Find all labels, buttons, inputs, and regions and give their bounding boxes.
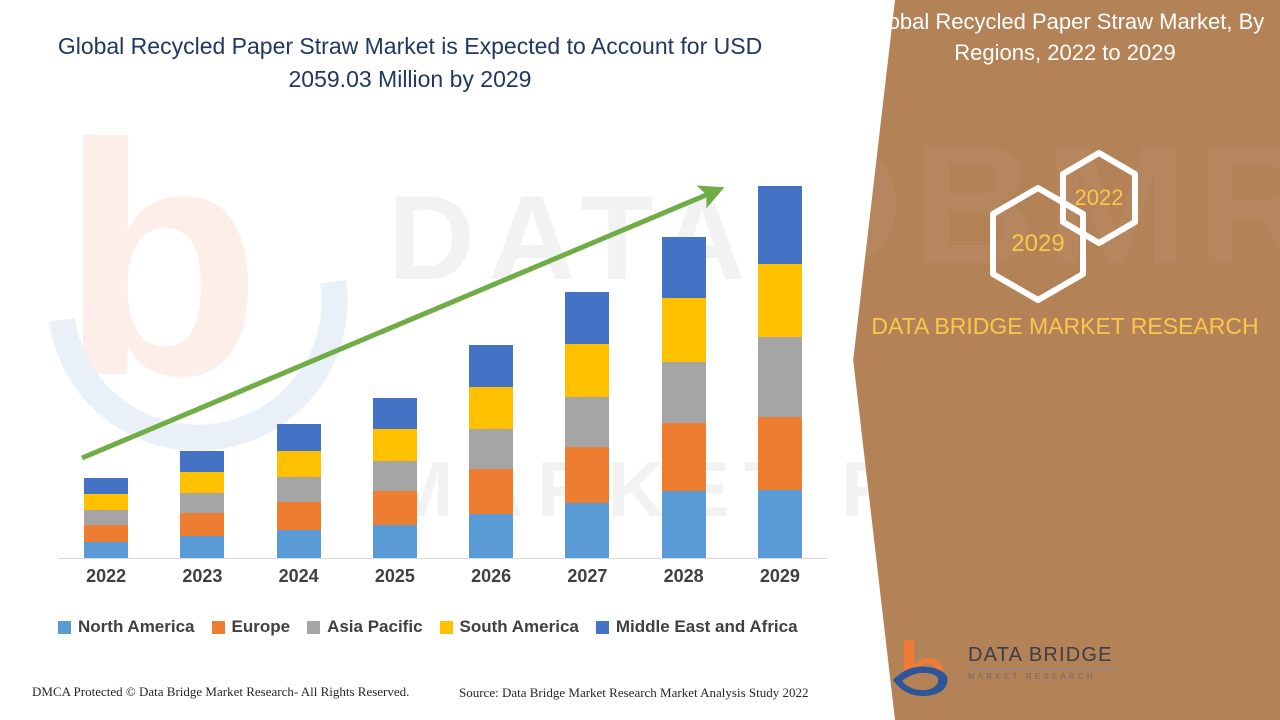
bar-segment — [373, 461, 417, 491]
x-axis-label: 2029 — [732, 566, 828, 587]
bar-stack — [84, 478, 128, 558]
bar-segment — [373, 429, 417, 461]
bar-segment — [469, 387, 513, 429]
logo-divider — [968, 669, 1120, 670]
bar-segment — [758, 337, 802, 417]
legend-label: Europe — [232, 617, 291, 637]
bar-segment — [180, 536, 224, 558]
legend-swatch-icon — [307, 621, 320, 634]
bar-column — [636, 150, 732, 558]
bar-segment — [84, 478, 128, 494]
logo-sub-text: MARKET RESEARCH — [968, 673, 1120, 682]
legend-label: Asia Pacific — [327, 617, 422, 637]
dmca-notice: DMCA Protected © Data Bridge Market Rese… — [32, 684, 409, 700]
bar-segment — [758, 264, 802, 337]
legend-item[interactable]: Asia Pacific — [307, 617, 422, 637]
bar-segment — [373, 398, 417, 429]
hexagon-label-2029: 2029 — [1011, 230, 1064, 258]
bar-segment — [373, 525, 417, 558]
hexagon-label-2022: 2022 — [1075, 185, 1124, 211]
bar-stack — [180, 451, 224, 558]
bar-column — [251, 150, 347, 558]
chart-legend: North AmericaEuropeAsia PacificSouth Ame… — [58, 617, 838, 637]
x-axis-labels: 20222023202420252026202720282029 — [58, 566, 828, 587]
bar-stack — [565, 292, 609, 558]
bar-segment — [565, 292, 609, 344]
bar-segment — [277, 424, 321, 451]
bar-segment — [84, 525, 128, 542]
bar-segment — [180, 451, 224, 472]
bar-segment — [469, 469, 513, 514]
logo-mark-icon — [890, 636, 962, 698]
bar-segment — [180, 513, 224, 536]
bar-segment — [180, 493, 224, 513]
data-bridge-logo: DATA BRIDGE MARKET RESEARCH — [890, 636, 1120, 698]
legend-swatch-icon — [58, 621, 71, 634]
bar-segment — [758, 417, 802, 490]
legend-label: South America — [460, 617, 579, 637]
logo-main-text: DATA BRIDGE — [968, 644, 1120, 667]
bar-segment — [277, 530, 321, 558]
bar-segment — [469, 429, 513, 469]
legend-label: Middle East and Africa — [616, 617, 798, 637]
bar-column — [539, 150, 635, 558]
bar-segment — [565, 447, 609, 503]
bar-segment — [662, 423, 706, 491]
x-axis-label: 2026 — [443, 566, 539, 587]
brand-name: DATA BRIDGE MARKET RESEARCH — [870, 310, 1260, 343]
right-brand-panel: DBMR Global Recycled Paper Straw Market,… — [840, 0, 1280, 720]
bar-segment — [662, 362, 706, 423]
legend-swatch-icon — [212, 621, 225, 634]
bar-segment — [662, 491, 706, 558]
legend-swatch-icon — [596, 621, 609, 634]
bar-segment — [277, 502, 321, 530]
x-axis-label: 2027 — [539, 566, 635, 587]
bar-stack — [277, 424, 321, 558]
logo-text: DATA BRIDGE MARKET RESEARCH — [968, 644, 1120, 682]
bar-segment — [565, 397, 609, 447]
bar-segment — [469, 345, 513, 387]
x-axis-line — [58, 558, 828, 559]
x-axis-label: 2022 — [58, 566, 154, 587]
bar-segment — [469, 514, 513, 558]
infographic-root: b DATA MARKET RESEARCH Global Recycled P… — [0, 0, 1280, 720]
bar-stack — [662, 237, 706, 558]
legend-swatch-icon — [440, 621, 453, 634]
bar-segment — [758, 186, 802, 264]
bar-segment — [373, 491, 417, 525]
legend-item[interactable]: Europe — [212, 617, 291, 637]
panel-title: Global Recycled Paper Straw Market, By R… — [865, 6, 1265, 68]
x-axis-label: 2028 — [636, 566, 732, 587]
legend-item[interactable]: Middle East and Africa — [596, 617, 798, 637]
bar-segment — [277, 451, 321, 477]
bar-column — [443, 150, 539, 558]
bar-segment — [662, 298, 706, 362]
bar-column — [732, 150, 828, 558]
chart-title: Global Recycled Paper Straw Market is Ex… — [40, 30, 780, 95]
bar-segment — [180, 472, 224, 493]
bar-segment — [277, 477, 321, 502]
bar-column — [347, 150, 443, 558]
source-note: Source: Data Bridge Market Research Mark… — [459, 685, 808, 701]
bar-segment — [84, 510, 128, 525]
bar-segment — [662, 237, 706, 298]
bar-segment — [565, 344, 609, 397]
bar-column — [154, 150, 250, 558]
chart-plot-area — [58, 150, 828, 559]
bar-series-container — [58, 150, 828, 558]
legend-label: North America — [78, 617, 195, 637]
bar-segment — [84, 542, 128, 558]
bar-stack — [758, 186, 802, 558]
x-axis-label: 2023 — [154, 566, 250, 587]
bar-column — [58, 150, 154, 558]
bar-segment — [84, 494, 128, 510]
legend-item[interactable]: North America — [58, 617, 195, 637]
bar-segment — [758, 490, 802, 558]
bar-stack — [373, 398, 417, 558]
hexagon-badges: 2022 2029 — [970, 148, 1190, 283]
bar-segment — [565, 503, 609, 558]
bar-stack — [469, 345, 513, 558]
x-axis-label: 2025 — [347, 566, 443, 587]
x-axis-label: 2024 — [251, 566, 347, 587]
legend-item[interactable]: South America — [440, 617, 579, 637]
